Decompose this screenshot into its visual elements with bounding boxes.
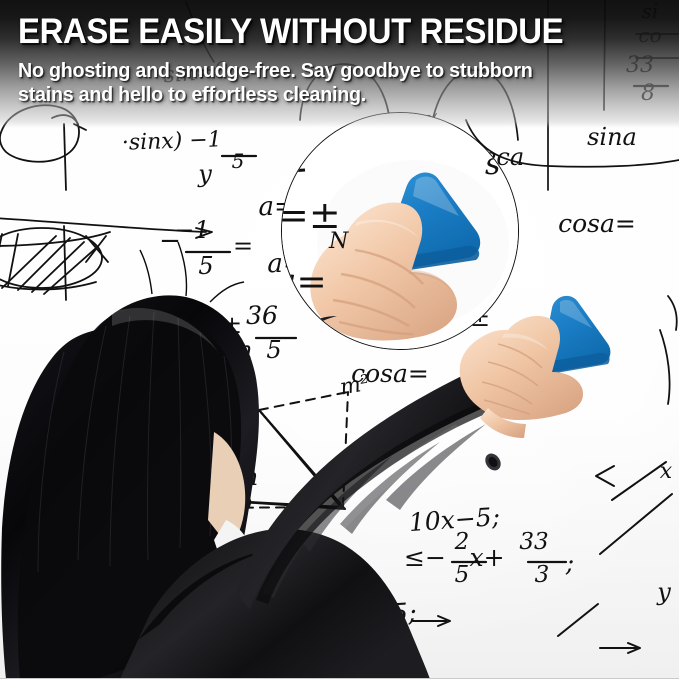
- magnified-content: =± N a= 36 s + N /: [281, 112, 519, 350]
- subheadline-line-2: stains and hello to effortless cleaning.: [18, 83, 630, 107]
- headline: ERASE EASILY WITHOUT RESIDUE: [18, 12, 624, 52]
- product-image-card: ·sinx) −15y−−15=na=±36m5a=±Na==±Ncosa=in…: [0, 0, 679, 679]
- svg-text:N: N: [492, 341, 512, 350]
- magnified-detail-circle: =± N a= 36 s + N /: [281, 112, 519, 350]
- sleeve-button: [482, 451, 504, 474]
- marketing-copy: ERASE EASILY WITHOUT RESIDUE No ghosting…: [0, 0, 679, 128]
- svg-text:N: N: [328, 229, 349, 254]
- magnified-fraction-bar: [281, 170, 305, 172]
- svg-text:a=: a=: [281, 262, 327, 303]
- subheadline-line-1: No ghosting and smudge-free. Say goodbye…: [18, 59, 533, 82]
- subheadline: No ghosting and smudge-free. Say goodbye…: [18, 59, 630, 107]
- svg-text:36: 36: [281, 325, 316, 350]
- svg-text:s: s: [485, 147, 500, 182]
- stray-hairs: [140, 242, 244, 302]
